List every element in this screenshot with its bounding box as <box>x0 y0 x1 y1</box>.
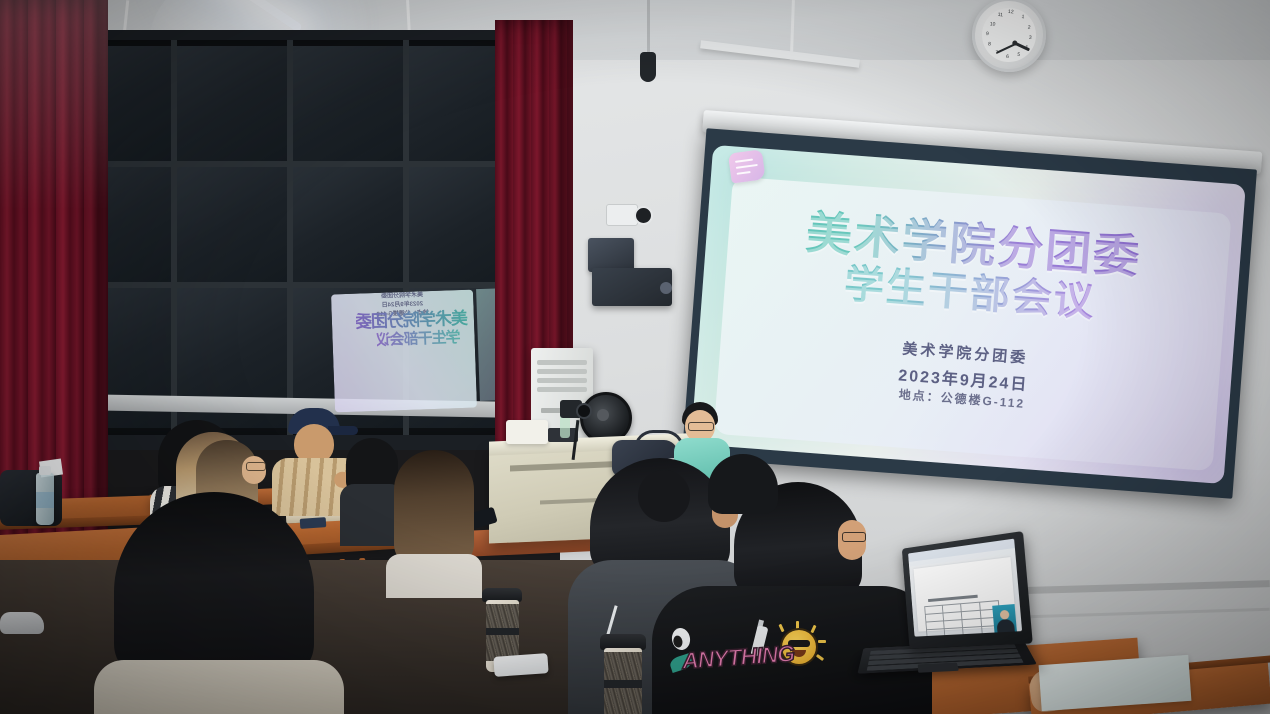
clock-tick: 5 <box>1017 52 1020 58</box>
sun-ray <box>818 640 826 643</box>
clock-tick: 11 <box>997 12 1003 18</box>
hanging-microphone-icon <box>640 52 656 82</box>
tshirt-word: ANYTHING <box>681 640 795 675</box>
laptop-computer[interactable] <box>862 540 1037 680</box>
cup-sleeve-pattern <box>604 652 642 680</box>
clock-tick: 9 <box>986 31 989 37</box>
window-pane <box>293 167 403 282</box>
torso <box>386 554 482 598</box>
ac-louvre <box>537 360 587 365</box>
reflection-title-line2: 学生干部会议 <box>376 326 461 350</box>
window-pane <box>293 46 403 161</box>
camera-lens-icon <box>634 206 653 225</box>
glasses-icon <box>246 462 266 471</box>
cup-band <box>604 680 642 688</box>
bottle-cap <box>39 466 51 475</box>
equipment-knob <box>660 282 672 294</box>
window-mullion <box>55 161 535 167</box>
student-long-brown-hair <box>386 450 482 590</box>
window-mullion <box>287 40 293 435</box>
window-pane <box>177 46 287 161</box>
document-heading <box>928 595 978 602</box>
hair <box>114 492 314 680</box>
bottle-label <box>36 492 54 508</box>
ac-louvre <box>537 378 587 383</box>
window-mullion <box>55 282 535 288</box>
sun-ray <box>778 624 784 633</box>
fan-hub <box>597 409 609 421</box>
cup-sleeve-pattern <box>604 688 642 714</box>
window-mullion <box>171 40 177 435</box>
ac-louvre <box>537 387 587 392</box>
document-table <box>924 600 1001 637</box>
sun-ray <box>810 625 816 634</box>
speech-bubble-icon <box>728 149 766 183</box>
cup-band <box>486 628 519 635</box>
id-photo-body <box>996 619 1015 635</box>
clock-tick: 1 <box>1021 14 1024 20</box>
glasses-icon <box>688 422 714 431</box>
classroom-photo: 美术学院分团委 学生干部会议 美术学院分团委2023年9月24日地点：公德楼G-… <box>0 0 1270 714</box>
laptop-screen[interactable] <box>908 539 1022 637</box>
wall-camera <box>606 198 650 228</box>
wall-speaker <box>588 238 634 272</box>
bubble-line <box>737 171 751 175</box>
clock-tick: 3 <box>1029 35 1032 41</box>
clock-tick: 10 <box>990 21 996 27</box>
clock-tick: 2 <box>1027 25 1030 31</box>
cap-brim <box>328 426 358 435</box>
bubble-line <box>735 159 753 163</box>
document-page <box>914 557 1017 632</box>
clock-hour-hand <box>1015 42 1030 51</box>
clock-tick: 6 <box>1006 54 1009 60</box>
ac-louvre <box>537 369 587 374</box>
ball-inner <box>672 635 683 648</box>
white-phone <box>493 653 548 677</box>
laptop-touchpad[interactable] <box>918 662 959 672</box>
torso <box>94 660 344 714</box>
clock-tick: 12 <box>1008 9 1014 15</box>
student-front-left-long-hair <box>94 492 344 714</box>
sun-ray <box>816 654 824 661</box>
clock-tick: 8 <box>988 41 991 47</box>
shoe <box>0 612 44 634</box>
presentation-slide: 美术学院分团委 学生干部会议 美术学院分团委 2023年9月24日 地点：公德楼… <box>691 145 1246 484</box>
student-back-row-right <box>700 454 786 534</box>
podium-device <box>506 420 548 444</box>
sun-ray <box>796 621 799 629</box>
microphone-cable <box>647 0 650 60</box>
tshirt-graphic: ANYTHING <box>676 626 836 686</box>
window-pane <box>177 167 287 282</box>
hair <box>394 450 474 568</box>
hair <box>708 454 778 514</box>
cup-sleeve-pattern <box>486 604 519 628</box>
laptop-lid <box>902 531 1033 648</box>
clock-face: 12 1 2 3 4 5 6 7 8 9 10 11 <box>980 6 1039 65</box>
curtain-highlight <box>0 0 108 210</box>
window-reflection-of-slide: 美术学院分团委 学生干部会议 美术学院分团委2023年9月24日地点：公德楼G-… <box>331 290 477 413</box>
video-camera-lens-icon <box>576 403 592 419</box>
bubble-line <box>736 164 758 169</box>
